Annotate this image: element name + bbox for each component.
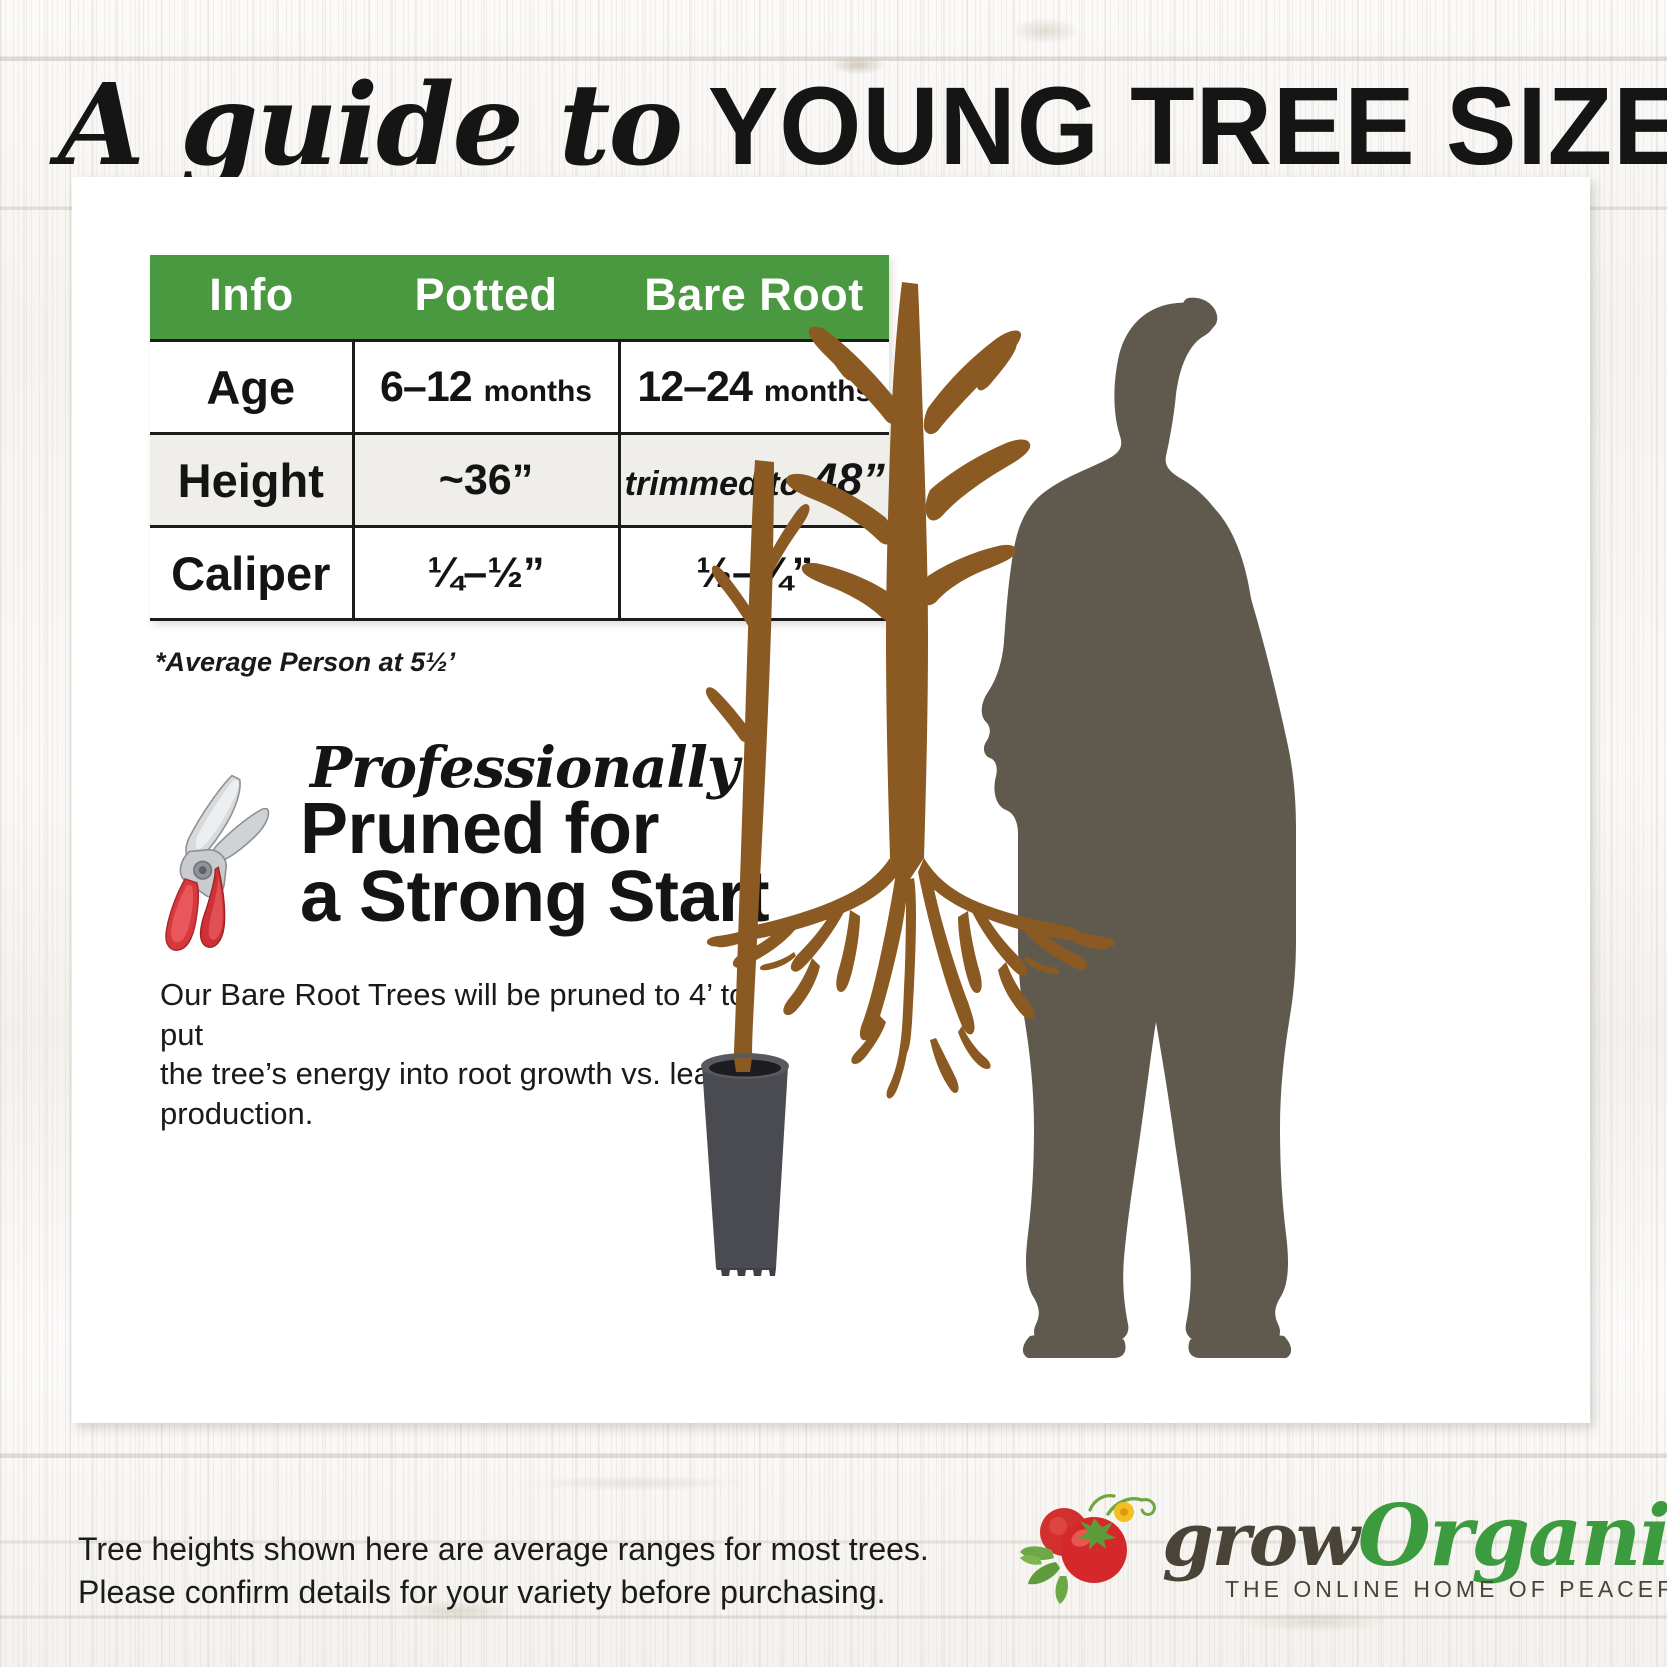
grow-organic-logo[interactable]: growOrganic.COM THE ONLINE HOME OF PEACE… — [1020, 1478, 1600, 1628]
pruning-shears-icon — [160, 758, 300, 958]
row-label-caliper: Caliper — [150, 527, 353, 620]
pruned-body-text: Our Bare Root Trees will be pruned to 4’… — [160, 975, 780, 1134]
illustration-svg — [690, 240, 1570, 1360]
cell-height-potted: ~36” — [353, 434, 619, 527]
column-header-info: Info — [150, 255, 353, 341]
page-title: A guide to YOUNG TREE SIZES — [58, 60, 1638, 182]
cell-caliper-potted: ¼–½” — [353, 527, 619, 620]
footer-line-2: Please confirm details for your variety … — [78, 1571, 929, 1614]
table-footnote: *Average Person at 5½’ — [155, 647, 455, 678]
tomato-flower-icon — [1114, 1502, 1134, 1522]
footer-line-1: Tree heights shown here are average rang… — [78, 1528, 929, 1571]
footer-disclaimer: Tree heights shown here are average rang… — [78, 1528, 929, 1614]
potted-tree — [701, 460, 810, 1276]
wood-knot — [1010, 18, 1080, 44]
cell-age-potted: 6–12 months — [353, 341, 619, 434]
logo-wordmark: growOrganic.COM — [1162, 1486, 1667, 1585]
row-label-height: Height — [150, 434, 353, 527]
cell-age-potted-unit: months — [484, 375, 592, 408]
pruned-body-line-2: the tree’s energy into root growth vs. l… — [160, 1054, 780, 1133]
tomato-cluster-icon — [1020, 1488, 1170, 1608]
tree-size-illustrations — [690, 240, 1570, 1360]
title-block-part: YOUNG TREE SIZES — [707, 63, 1667, 190]
logo-grow-text: grow — [1162, 1497, 1358, 1583]
row-label-age: Age — [150, 341, 353, 434]
column-header-potted: Potted — [353, 255, 619, 341]
title-script-part: A guide to — [58, 60, 681, 191]
pruned-body-line-1: Our Bare Root Trees will be pruned to 4’… — [160, 975, 780, 1054]
cell-age-potted-value: 6–12 — [380, 363, 472, 411]
wood-knot — [520, 1475, 750, 1491]
logo-organic-text: Organic — [1358, 1486, 1667, 1585]
logo-tagline: THE ONLINE HOME OF PEACEFUL VALLEY — [1225, 1576, 1667, 1603]
person-silhouette — [982, 298, 1296, 1358]
